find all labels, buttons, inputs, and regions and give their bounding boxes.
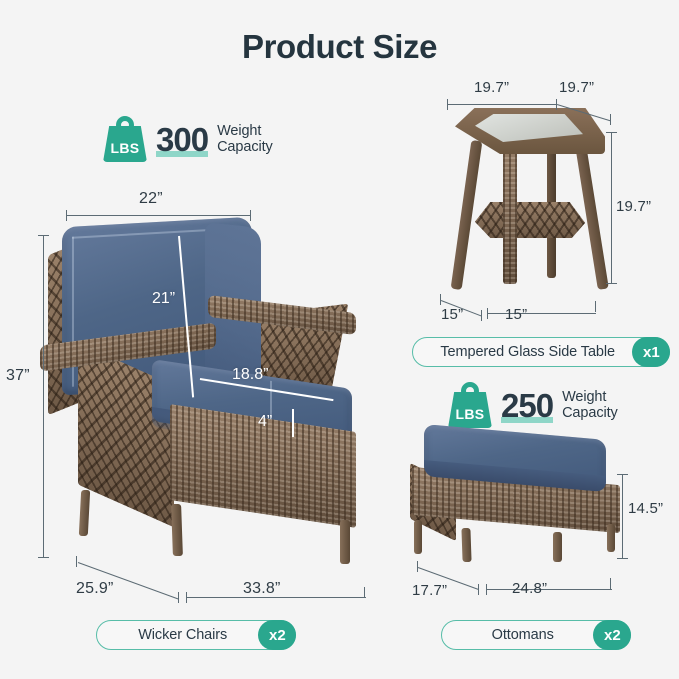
side-table-illustration	[455, 108, 610, 298]
ottoman-capacity-value: 250	[501, 389, 553, 422]
chair-height-line	[43, 235, 44, 558]
table-front-leg	[503, 144, 517, 284]
ottoman-width-label: 24.8”	[512, 580, 547, 597]
dim-tick	[487, 308, 488, 319]
dim-tick	[66, 210, 67, 221]
table-base-width-line	[487, 313, 596, 314]
chair-capacity-label-line1: Weight	[217, 123, 273, 139]
chair-back-cushion-height-label: 21”	[152, 290, 175, 308]
dim-tick	[38, 557, 49, 558]
dim-tick	[447, 99, 448, 110]
pill-wicker-chairs-quantity: x2	[258, 620, 296, 650]
product-size-infographic: Product Size LBS 300 Weight Capacity	[0, 0, 679, 679]
table-lower-shelf	[475, 202, 585, 238]
pill-ottomans[interactable]: Ottomans x2	[441, 620, 631, 650]
chair-width-top-line	[66, 215, 251, 216]
table-base-depth-label: 15”	[441, 306, 463, 323]
ottoman-illustration	[410, 432, 630, 562]
pill-ottomans-quantity: x2	[593, 620, 631, 650]
table-top-depth-label: 19.7”	[559, 79, 594, 96]
dim-tick	[617, 474, 628, 475]
weight-icon-label: LBS	[103, 140, 147, 156]
pill-side-table[interactable]: Tempered Glass Side Table x1	[412, 337, 670, 367]
ottoman-weight-capacity: LBS 250 Weight Capacity	[448, 382, 618, 428]
dim-tick	[481, 310, 482, 321]
chair-front-right-leg	[340, 520, 350, 564]
table-top-width-line	[447, 104, 557, 105]
dim-tick	[595, 301, 596, 312]
table-base-width-label: 15”	[505, 306, 527, 323]
ottoman-height-label: 14.5”	[628, 500, 663, 517]
dim-tick	[417, 561, 418, 572]
dim-tick	[38, 235, 49, 236]
pill-side-table-quantity: x1	[632, 337, 670, 367]
dim-tick	[606, 132, 617, 133]
dim-tick	[440, 294, 441, 305]
chair-capacity-label-line2: Capacity	[217, 139, 273, 155]
ottoman-capacity-label-line1: Weight	[562, 389, 618, 405]
chair-capacity-number-wrap: 300	[156, 123, 208, 156]
ottoman-width-line	[486, 589, 612, 590]
chair-cushion-thickness-line	[292, 409, 294, 437]
chair-weight-capacity: LBS 300 Weight Capacity	[103, 116, 273, 162]
weight-icon-label: LBS	[448, 406, 492, 422]
page-title: Product Size	[242, 28, 437, 66]
chair-back-left-leg	[79, 490, 90, 536]
pill-wicker-chairs[interactable]: Wicker Chairs x2	[96, 620, 296, 650]
table-height-line	[611, 132, 612, 284]
dim-tick	[610, 578, 611, 589]
chair-height-label: 37”	[6, 367, 30, 385]
chair-width-top-label: 22”	[139, 190, 163, 208]
pill-side-table-label: Tempered Glass Side Table	[429, 344, 632, 360]
dim-tick	[610, 114, 611, 125]
ottoman-leg-back-right	[607, 524, 615, 552]
dim-tick	[606, 283, 617, 284]
weight-lbs-icon: LBS	[448, 382, 492, 428]
weight-lbs-icon: LBS	[103, 116, 147, 162]
ottoman-leg-front-left	[461, 528, 471, 562]
chair-front-left-leg	[171, 504, 183, 556]
dim-tick	[178, 592, 179, 603]
chair-seat-depth-label: 18.8”	[232, 366, 268, 384]
chair-capacity-value: 300	[156, 123, 208, 156]
chair-cushion-thickness-label: 4”	[258, 413, 272, 431]
ottoman-leg-back-left	[414, 520, 422, 554]
table-left-leg	[451, 140, 483, 290]
dim-tick	[617, 558, 628, 559]
table-top-width-label: 19.7”	[474, 79, 509, 96]
chair-depth-label: 25.9”	[76, 580, 113, 598]
dim-tick	[76, 556, 77, 567]
ottoman-height-line	[622, 474, 623, 559]
ottoman-capacity-label-line2: Capacity	[562, 405, 618, 421]
pill-wicker-chairs-label: Wicker Chairs	[113, 627, 258, 643]
chair-overall-width-label: 33.8”	[243, 580, 280, 598]
ottoman-capacity-label: Weight Capacity	[562, 389, 618, 421]
table-height-label: 19.7”	[616, 198, 651, 215]
table-right-leg	[574, 138, 609, 290]
dim-tick	[486, 584, 487, 595]
ottoman-leg-front-right	[553, 532, 562, 562]
page-title-container: Product Size	[0, 28, 679, 66]
page-title-text: Product Size	[242, 28, 437, 65]
pill-ottomans-label: Ottomans	[458, 627, 593, 643]
ottoman-depth-label: 17.7”	[412, 582, 447, 599]
dim-tick	[250, 210, 251, 221]
ottoman-capacity-number-wrap: 250	[501, 389, 553, 422]
dim-tick	[364, 587, 365, 598]
dim-tick	[186, 592, 187, 603]
dim-tick	[478, 584, 479, 595]
wicker-chair-illustration	[40, 222, 430, 567]
chair-capacity-label: Weight Capacity	[217, 123, 273, 155]
